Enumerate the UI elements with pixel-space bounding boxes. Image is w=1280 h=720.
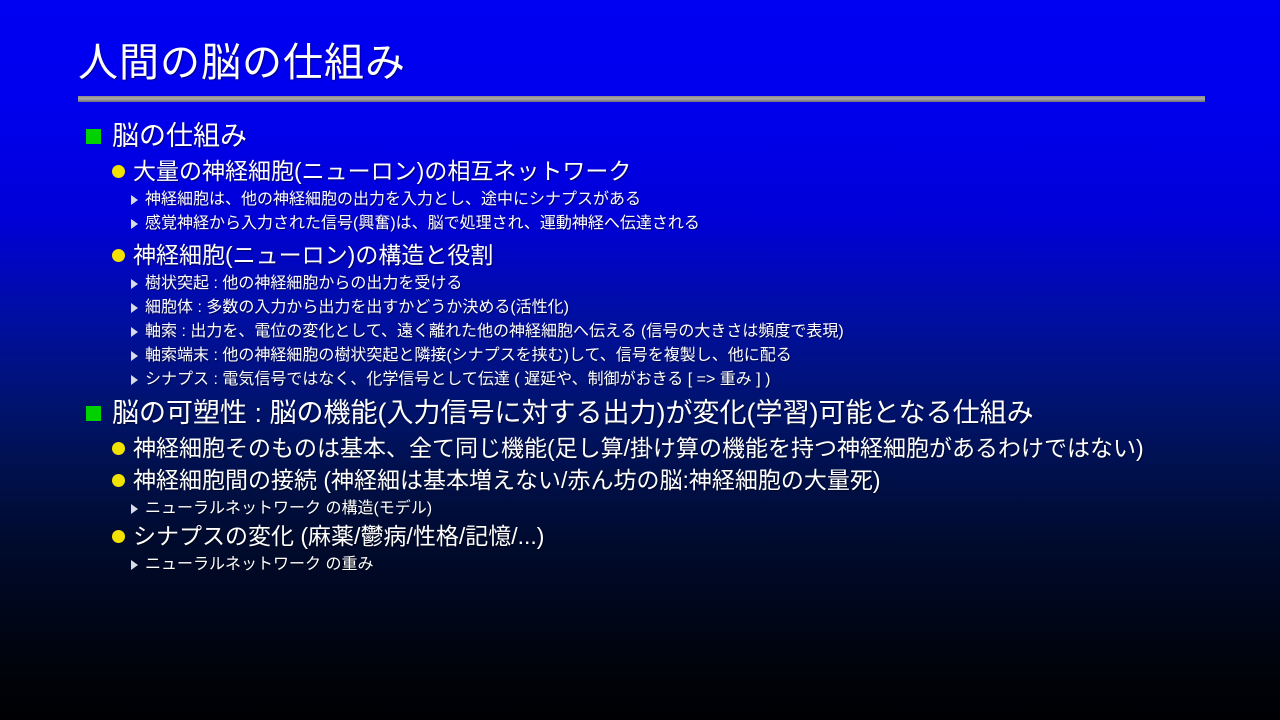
title-divider bbox=[78, 96, 1205, 102]
outline-item-level3: 軸索 : 出力を、電位の変化として、遠く離れた他の神経細胞へ伝える (信号の大き… bbox=[0, 320, 1280, 344]
outline-item-text: 樹状突起 : 他の神経細胞からの出力を受ける bbox=[145, 272, 462, 296]
green-square-bullet-icon bbox=[86, 129, 101, 144]
yellow-circle-bullet-icon bbox=[112, 530, 125, 543]
triangle-bullet-icon bbox=[131, 560, 138, 570]
outline-item-text: 軸索 : 出力を、電位の変化として、遠く離れた他の神経細胞へ伝える (信号の大き… bbox=[145, 320, 844, 344]
outline-item-text: 軸索端末 : 他の神経細胞の樹状突起と隣接(シナプスを挟む)して、信号を複製し、… bbox=[145, 344, 792, 368]
yellow-circle-bullet-icon bbox=[112, 474, 125, 487]
outline-item-level3: ニューラルネットワーク の重み bbox=[0, 553, 1280, 577]
outline-item-text: 感覚神経から入力された信号(興奮)は、脳で処理され、運動神経へ伝達される bbox=[145, 212, 700, 236]
outline-item-text: ニューラルネットワーク の重み bbox=[145, 553, 373, 577]
outline-item-text: 神経細胞(ニューロン)の構造と役割 bbox=[133, 240, 493, 271]
page-title: 人間の脳の仕組み bbox=[78, 38, 1206, 88]
triangle-bullet-icon bbox=[131, 279, 138, 289]
outline-item-level3: 細胞体 : 多数の入力から出力を出すかどうか決める(活性化) bbox=[0, 296, 1280, 320]
outline-item-level1: 脳の仕組み bbox=[0, 119, 1280, 154]
yellow-circle-bullet-icon bbox=[112, 442, 125, 455]
outline-item-level1: 脳の可塑性 : 脳の機能(入力信号に対する出力)が変化(学習)可能となる仕組み bbox=[0, 396, 1280, 431]
title-block: 人間の脳の仕組み bbox=[78, 38, 1206, 88]
outline-item-level3: 神経細胞は、他の神経細胞の出力を入力とし、途中にシナプスがある bbox=[0, 188, 1280, 212]
slide-body: 脳の仕組み 大量の神経細胞(ニューロン)の相互ネットワーク 神経細胞は、他の神経… bbox=[0, 119, 1280, 577]
triangle-bullet-icon bbox=[131, 195, 138, 205]
outline-item-text: 神経細胞そのものは基本、全て同じ機能(足し算/掛け算の機能を持つ神経細胞があるわ… bbox=[133, 433, 1144, 464]
outline-item-level3: 軸索端末 : 他の神経細胞の樹状突起と隣接(シナプスを挟む)して、信号を複製し、… bbox=[0, 344, 1280, 368]
yellow-circle-bullet-icon bbox=[112, 249, 125, 262]
outline-item-text: 脳の可塑性 : 脳の機能(入力信号に対する出力)が変化(学習)可能となる仕組み bbox=[112, 396, 1034, 431]
triangle-bullet-icon bbox=[131, 375, 138, 385]
triangle-bullet-icon bbox=[131, 351, 138, 361]
outline-item-level3: 樹状突起 : 他の神経細胞からの出力を受ける bbox=[0, 272, 1280, 296]
triangle-bullet-icon bbox=[131, 504, 138, 514]
outline-item-level3: シナプス : 電気信号ではなく、化学信号として伝達 ( 遅延や、制御がおきる [… bbox=[0, 368, 1280, 392]
outline-item-level2: 神経細胞そのものは基本、全て同じ機能(足し算/掛け算の機能を持つ神経細胞があるわ… bbox=[0, 433, 1280, 464]
outline-item-text: 神経細胞間の接続 (神経細は基本増えない/赤ん坊の脳:神経細胞の大量死) bbox=[133, 465, 881, 496]
triangle-bullet-icon bbox=[131, 327, 138, 337]
outline-item-level2: 神経細胞間の接続 (神経細は基本増えない/赤ん坊の脳:神経細胞の大量死) bbox=[0, 465, 1280, 496]
outline-item-text: 大量の神経細胞(ニューロン)の相互ネットワーク bbox=[133, 156, 631, 187]
outline-item-level2: 神経細胞(ニューロン)の構造と役割 bbox=[0, 240, 1280, 271]
outline-item-text: 脳の仕組み bbox=[112, 119, 247, 154]
outline-item-text: シナプス : 電気信号ではなく、化学信号として伝達 ( 遅延や、制御がおきる [… bbox=[145, 368, 770, 392]
triangle-bullet-icon bbox=[131, 303, 138, 313]
outline-item-text: ニューラルネットワーク の構造(モデル) bbox=[145, 497, 432, 521]
outline-item-text: 神経細胞は、他の神経細胞の出力を入力とし、途中にシナプスがある bbox=[145, 188, 641, 212]
outline-item-level3: ニューラルネットワーク の構造(モデル) bbox=[0, 497, 1280, 521]
triangle-bullet-icon bbox=[131, 219, 138, 229]
yellow-circle-bullet-icon bbox=[112, 165, 125, 178]
outline-item-text: シナプスの変化 (麻薬/鬱病/性格/記憶/...) bbox=[133, 521, 544, 552]
presentation-slide: 人間の脳の仕組み 脳の仕組み 大量の神経細胞(ニューロン)の相互ネットワーク 神… bbox=[0, 0, 1280, 720]
outline-item-level3: 感覚神経から入力された信号(興奮)は、脳で処理され、運動神経へ伝達される bbox=[0, 212, 1280, 236]
outline-item-text: 細胞体 : 多数の入力から出力を出すかどうか決める(活性化) bbox=[145, 296, 569, 320]
outline-item-level2: シナプスの変化 (麻薬/鬱病/性格/記憶/...) bbox=[0, 521, 1280, 552]
outline-item-level2: 大量の神経細胞(ニューロン)の相互ネットワーク bbox=[0, 156, 1280, 187]
green-square-bullet-icon bbox=[86, 406, 101, 421]
